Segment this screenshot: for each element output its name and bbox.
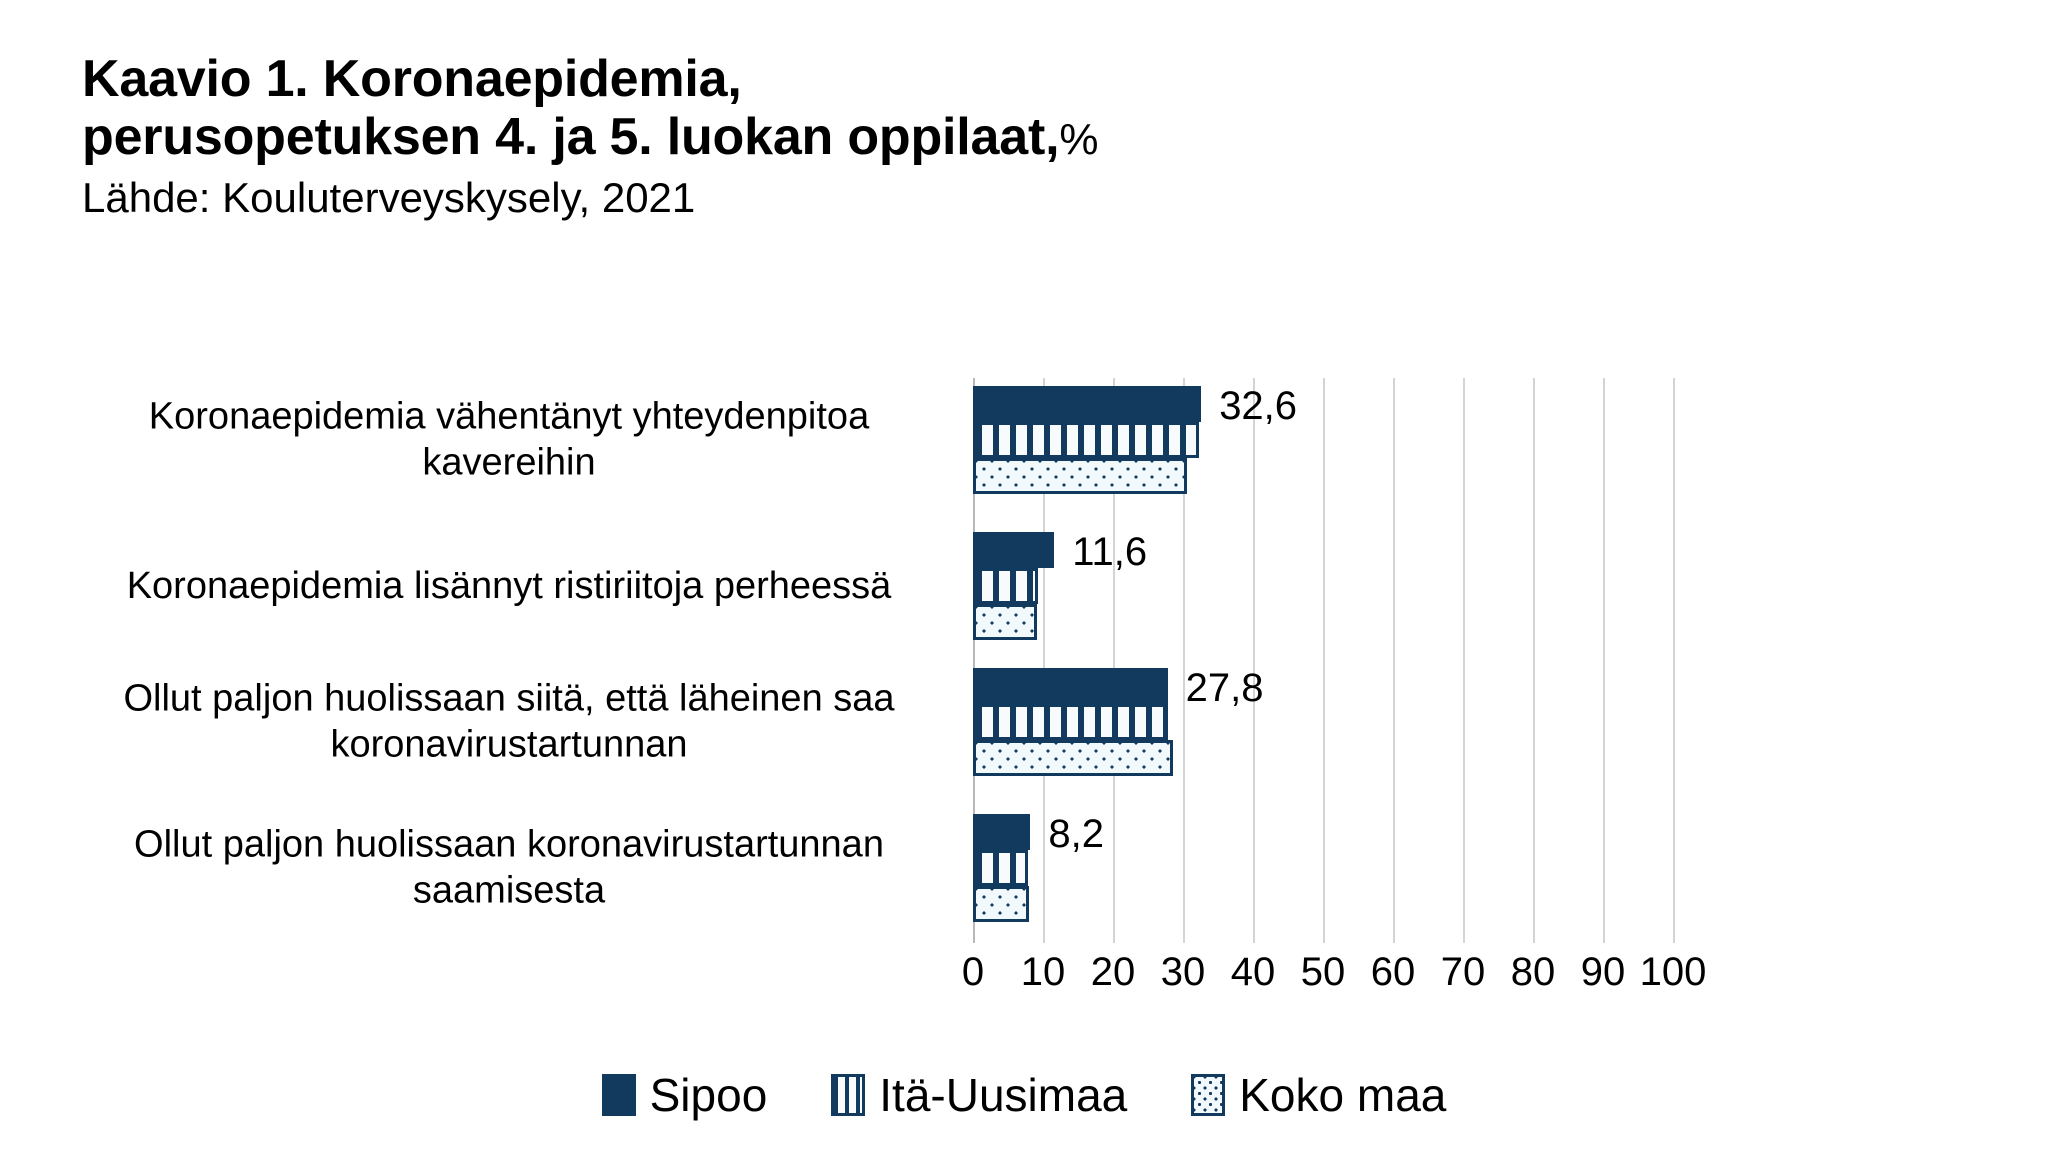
x-axis-tick-label: 0 (962, 950, 984, 995)
bar-group: Koronaepidemia lisännyt ristiriitoja per… (973, 532, 1673, 640)
legend-label: Itä-Uusimaa (879, 1068, 1127, 1122)
bar-koko-maa (973, 458, 1187, 494)
legend-label: Koko maa (1239, 1068, 1446, 1122)
x-axis-tick-label: 70 (1441, 950, 1486, 995)
plot-area: Koronaepidemia vähentänyt yhteydenpitoa … (973, 378, 1673, 943)
striped-swatch-icon (831, 1074, 865, 1116)
bar-value-label: 32,6 (1219, 384, 1297, 429)
legend-label: Sipoo (650, 1068, 768, 1122)
x-axis-tick-label: 10 (1021, 950, 1066, 995)
x-axis-tick-label: 100 (1640, 950, 1707, 995)
category-label: Koronaepidemia vähentänyt yhteydenpitoa … (69, 394, 949, 487)
bar-group: Ollut paljon huolissaan koronavirustartu… (973, 814, 1673, 922)
bar-value-label: 11,6 (1072, 530, 1147, 575)
x-axis-tick-label: 30 (1161, 950, 1206, 995)
bar-sipoo (973, 532, 1054, 568)
x-axis-tick-label: 50 (1301, 950, 1346, 995)
solid-swatch-icon (602, 1074, 636, 1116)
category-label: Koronaepidemia lisännyt ristiriitoja per… (69, 563, 949, 609)
category-label: Ollut paljon huolissaan siitä, että lähe… (69, 676, 949, 769)
gridline (1673, 378, 1675, 943)
bar-sipoo (973, 668, 1168, 704)
legend-item-itä-uusimaa[interactable]: Itä-Uusimaa (831, 1068, 1127, 1122)
bar-sipoo (973, 386, 1201, 422)
bar-koko-maa (973, 740, 1173, 776)
bar-itä-uusimaa (973, 568, 1038, 604)
chart-legend: SipooItä-UusimaaKoko maa (0, 1068, 2048, 1122)
x-axis-tick-label: 20 (1091, 950, 1136, 995)
x-axis-tick-label: 90 (1581, 950, 1626, 995)
x-axis-tick-label: 40 (1231, 950, 1276, 995)
category-label: Ollut paljon huolissaan koronavirustartu… (69, 822, 949, 915)
bar-value-label: 27,8 (1186, 666, 1264, 711)
x-axis-tick-label: 60 (1371, 950, 1416, 995)
bar-itä-uusimaa (973, 850, 1028, 886)
bar-itä-uusimaa (973, 704, 1168, 740)
legend-item-koko-maa[interactable]: Koko maa (1191, 1068, 1446, 1122)
bar-group: Koronaepidemia vähentänyt yhteydenpitoa … (973, 386, 1673, 494)
bar-group: Ollut paljon huolissaan siitä, että lähe… (973, 668, 1673, 776)
dotted-swatch-icon (1191, 1074, 1225, 1116)
x-axis-tick-label: 80 (1511, 950, 1556, 995)
bar-itä-uusimaa (973, 422, 1199, 458)
bar-value-label: 8,2 (1048, 812, 1104, 857)
bar-chart: Koronaepidemia vähentänyt yhteydenpitoa … (0, 0, 2048, 1163)
bar-koko-maa (973, 604, 1037, 640)
bar-sipoo (973, 814, 1030, 850)
legend-item-sipoo[interactable]: Sipoo (602, 1068, 768, 1122)
bar-koko-maa (973, 886, 1029, 922)
